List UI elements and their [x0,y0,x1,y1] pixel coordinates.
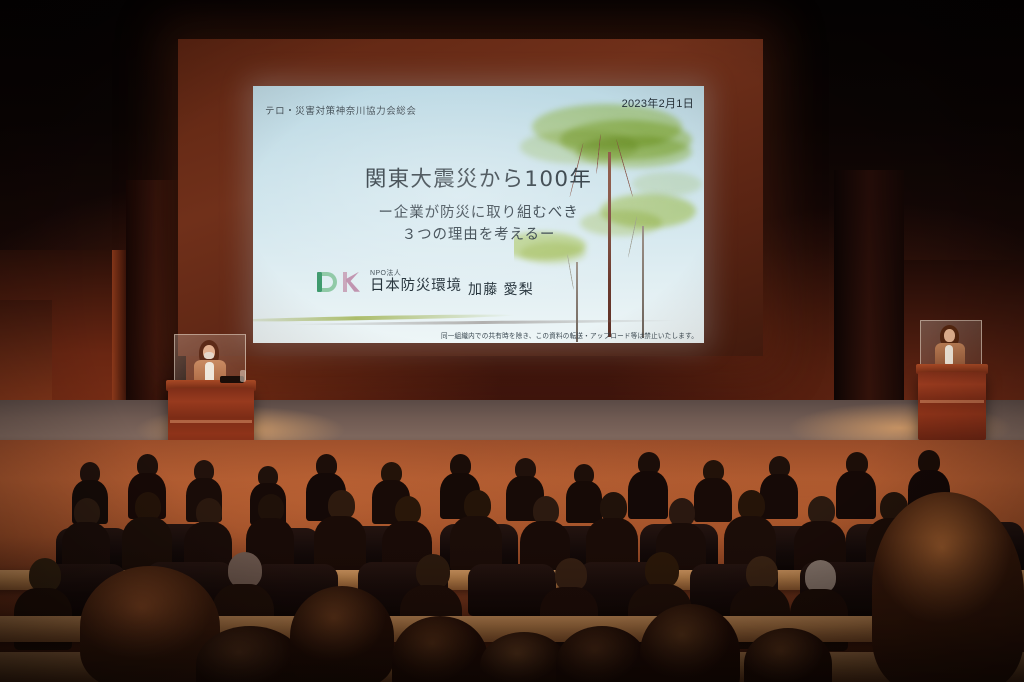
right-podium [916,320,988,440]
projection-screen: テロ・災害対策神奈川協力会総会 2023年2月1日 関東大震災から100年 ー企… [253,86,704,343]
logo-org-name: 日本防災環境 [370,279,462,294]
slide-divider [253,313,704,327]
bk-logo-icon [317,271,361,293]
audience-area [0,440,1024,682]
slide-footnote: 同一組織内での共有時を除き、この資料の転送・アップロード等は禁止いたします。 [441,330,698,340]
slide-subtitle: ー企業が防災に取り組むべき ３つの理由を考えるー [253,202,704,246]
logo-org-type: NPO法人 [370,270,462,277]
slide-title: 関東大震災から100年 [253,162,704,193]
organization-logo: NPO法人 日本防災環境 [317,270,462,294]
slide-subtitle-line-2: ３つの理由を考えるー [253,224,704,246]
water-bottle-left [240,370,246,382]
auditorium-photo: テロ・災害対策神奈川協力会総会 2023年2月1日 関東大震災から100年 ー企… [0,0,1024,682]
presenter-right [932,325,972,369]
slide-date: 2023年2月1日 [622,95,694,111]
slide-header-text: テロ・災害対策神奈川協力会総会 [265,103,417,117]
slide-subtitle-line-1: ー企業が防災に取り組むべき [253,202,704,224]
slide-speaker-name: 加藤 愛梨 [468,279,534,299]
